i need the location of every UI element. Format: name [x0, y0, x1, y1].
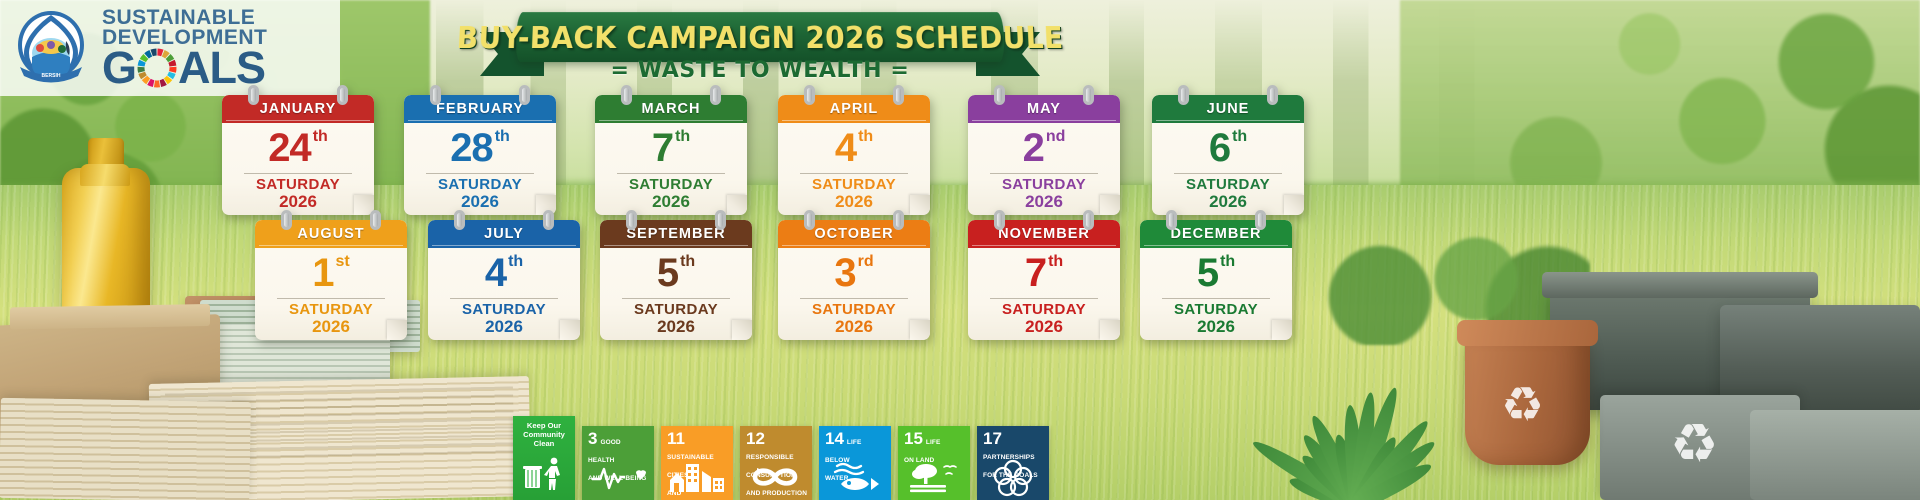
calendar-ring-left-icon — [626, 210, 637, 230]
calendar-month-label: DECEMBER — [1171, 226, 1262, 242]
calendar-ring-left-icon — [454, 210, 465, 230]
page-subtitle: = WASTE TO WEALTH = — [480, 58, 1040, 83]
calendar-day-number: 2 — [1023, 128, 1044, 168]
calendar-day-suffix: th — [675, 128, 690, 146]
calendar-day-suffix: rd — [858, 253, 874, 271]
calendar-card-body: AUGUST1stSATURDAY2026 — [255, 220, 407, 340]
calendar-year-label: 2026 — [255, 317, 407, 337]
calendar-month-header: FEBRUARY — [404, 95, 556, 123]
calendar-ring-right-icon — [370, 210, 381, 230]
calendar-card-body: MARCH7thSATURDAY2026 — [595, 95, 747, 215]
calendar-page-curl — [1272, 320, 1292, 340]
calendar-ring-left-icon — [994, 210, 1005, 230]
calendar-day-suffix: th — [680, 253, 695, 271]
calendar-day-wrap: 24th — [222, 124, 374, 172]
calendar-day-suffix: th — [858, 128, 873, 146]
calendar-ring-left-icon — [804, 210, 815, 230]
calendar-card-november[interactable]: NOVEMBER7thSATURDAY2026 — [968, 220, 1120, 340]
calendar-card-june[interactable]: JUNE6thSATURDAY2026 — [1152, 95, 1304, 215]
calendar-divider — [800, 173, 908, 174]
calendar-day-number: 4 — [835, 128, 856, 168]
calendar-ring-left-icon — [281, 210, 292, 230]
calendar-month-label: NOVEMBER — [998, 226, 1090, 242]
calendar-divider — [450, 298, 558, 299]
calendar-weekday-label: SATURDAY — [428, 301, 580, 318]
calendar-month-label: JULY — [484, 226, 524, 242]
calendar-page-curl — [727, 195, 747, 215]
calendar-ring-right-icon — [337, 85, 348, 105]
sdg-icon-number: 14 — [825, 431, 844, 446]
calendar-card-september[interactable]: SEPTEMBER5thSATURDAY2026 — [600, 220, 752, 340]
calendar-day-wrap: 5th — [600, 249, 752, 297]
calendar-ring-left-icon — [804, 85, 815, 105]
sdg-icon-label: Keep OurCommunityClean — [523, 421, 565, 448]
calendar-weekday-label: SATURDAY — [778, 301, 930, 318]
calendar-month-label: APRIL — [830, 101, 879, 117]
calendar-day-suffix: th — [1232, 128, 1247, 146]
calendar-month-label: OCTOBER — [814, 226, 893, 242]
fish-waves-icon — [819, 458, 891, 496]
calendar-day-number: 28 — [450, 128, 493, 168]
calendar-day-suffix: nd — [1046, 128, 1066, 146]
sdg-icon-17: 17PARTNERSHIPSFOR THE GOALS — [977, 426, 1049, 500]
calendar-page-curl — [732, 320, 752, 340]
calendar-year-label: 2026 — [595, 192, 747, 212]
calendar-ring-right-icon — [519, 85, 530, 105]
calendar-weekday-label: SATURDAY — [255, 301, 407, 318]
calendar-weekday-label: SATURDAY — [1140, 301, 1292, 318]
calendar-day-suffix: th — [495, 128, 510, 146]
interlocking-rings-icon — [977, 458, 1049, 496]
calendar-divider — [244, 173, 352, 174]
calendar-day-suffix: th — [508, 253, 523, 271]
calendar-page-curl — [1284, 195, 1304, 215]
calendar-ring-right-icon — [1083, 85, 1094, 105]
calendar-weekday-label: SATURDAY — [404, 176, 556, 193]
calendar-month-header: SEPTEMBER — [600, 220, 752, 248]
agave-plant-prop — [1242, 370, 1472, 500]
calendar-weekday-label: SATURDAY — [968, 301, 1120, 318]
calendar-card-march[interactable]: MARCH7thSATURDAY2026 — [595, 95, 747, 215]
calendar-year-label: 2026 — [600, 317, 752, 337]
calendar-day-wrap: 1st — [255, 249, 407, 297]
calendar-day-number: 4 — [485, 253, 506, 293]
calendar-month-header: DECEMBER — [1140, 220, 1292, 248]
page-title: BUY-BACK CAMPAIGN 2026 SCHEDULE — [456, 19, 1064, 55]
calendar-card-august[interactable]: AUGUST1stSATURDAY2026 — [255, 220, 407, 340]
calendar-day-suffix: th — [1048, 253, 1063, 271]
sdg-icon-number: 15 — [904, 431, 923, 446]
calendar-weekday-label: SATURDAY — [1152, 176, 1304, 193]
calendar-card-february[interactable]: FEBRUARY28thSATURDAY2026 — [404, 95, 556, 215]
calendar-card-body: JUNE6thSATURDAY2026 — [1152, 95, 1304, 215]
calendar-weekday-label: SATURDAY — [778, 176, 930, 193]
calendar-day-wrap: 3rd — [778, 249, 930, 297]
calendar-day-wrap: 5th — [1140, 249, 1292, 297]
calendar-year-label: 2026 — [1152, 192, 1304, 212]
trash-person-icon — [513, 451, 575, 497]
calendar-day-number: 1 — [312, 253, 333, 293]
calendar-card-body: FEBRUARY28thSATURDAY2026 — [404, 95, 556, 215]
calendar-ring-left-icon — [430, 85, 441, 105]
calendar-month-header: NOVEMBER — [968, 220, 1120, 248]
calendar-day-suffix: st — [336, 253, 350, 271]
calendar-card-january[interactable]: JANUARY24thSATURDAY2026 — [222, 95, 374, 215]
sdg-icon-11: 11SUSTAINABLE CITIESAND COMMUNITIES — [661, 426, 733, 500]
calendar-year-label: 2026 — [404, 192, 556, 212]
goals-als-letters: ALS — [178, 48, 265, 89]
heartbeat-icon — [582, 458, 654, 496]
calendar-year-label: 2026 — [968, 317, 1120, 337]
calendar-divider — [277, 298, 385, 299]
calendar-card-body: SEPTEMBER5thSATURDAY2026 — [600, 220, 752, 340]
calendar-year-label: 2026 — [222, 192, 374, 212]
sdg-color-wheel-icon — [137, 48, 177, 88]
calendar-month-label: MARCH — [642, 101, 701, 117]
calendar-card-body: JANUARY24thSATURDAY2026 — [222, 95, 374, 215]
calendar-day-wrap: 2nd — [968, 124, 1120, 172]
sdg-icon-number: 11 — [667, 431, 685, 446]
majlis-bandaraya-miri-seal-icon: BERSIH — [10, 7, 92, 89]
calendar-month-header: JUNE — [1152, 95, 1304, 123]
calendar-divider — [426, 173, 534, 174]
calendar-ring-left-icon — [1178, 85, 1189, 105]
calendar-card-october[interactable]: OCTOBER3rdSATURDAY2026 — [778, 220, 930, 340]
calendar-page-curl — [560, 320, 580, 340]
calendar-ring-right-icon — [893, 210, 904, 230]
sdg-icon-12: 12RESPONSIBLECONSUMPTIONAND PRODUCTION — [740, 426, 812, 500]
calendar-card-body: OCTOBER3rdSATURDAY2026 — [778, 220, 930, 340]
calendar-card-may[interactable]: MAY2ndSATURDAY2026 — [968, 95, 1120, 215]
sdg-icon-number: 12 — [746, 431, 765, 446]
calendar-divider — [622, 298, 730, 299]
calendar-day-wrap: 7th — [968, 249, 1120, 297]
sdg-icon-keep-community-clean: Keep OurCommunityClean — [513, 416, 575, 500]
calendar-day-wrap: 4th — [428, 249, 580, 297]
calendar-year-label: 2026 — [778, 317, 930, 337]
logo-panel: BERSIH SUSTAINABLE DEVELOPMENT G ALS — [0, 0, 340, 96]
calendar-divider — [617, 173, 725, 174]
calendar-month-label: FEBRUARY — [436, 101, 524, 117]
clay-pot-recycle-prop: ♻ — [1465, 330, 1590, 465]
calendar-day-suffix: th — [1220, 253, 1235, 271]
calendar-ring-right-icon — [893, 85, 904, 105]
calendar-card-july[interactable]: JULY4thSATURDAY2026 — [428, 220, 580, 340]
calendar-page-curl — [910, 195, 930, 215]
calendar-ring-right-icon — [1267, 85, 1278, 105]
recycle-symbol-pot-icon: ♻ — [1501, 382, 1544, 430]
calendar-ring-left-icon — [621, 85, 632, 105]
calendar-ring-left-icon — [994, 85, 1005, 105]
calendar-day-suffix: th — [313, 128, 328, 146]
sdg-icon-number: 3 — [588, 431, 597, 446]
calendar-day-number: 6 — [1209, 128, 1230, 168]
calendar-page-curl — [910, 320, 930, 340]
calendar-ring-right-icon — [1083, 210, 1094, 230]
calendar-month-label: JUNE — [1207, 101, 1250, 117]
tree-birds-icon — [898, 458, 970, 496]
calendar-ring-right-icon — [710, 85, 721, 105]
calendar-ring-left-icon — [1166, 210, 1177, 230]
calendar-weekday-label: SATURDAY — [595, 176, 747, 193]
newspaper-stack-left-prop — [0, 398, 251, 500]
calendar-month-label: MAY — [1027, 101, 1061, 117]
calendar-day-number: 7 — [1025, 253, 1046, 293]
calendar-month-label: AUGUST — [297, 226, 364, 242]
calendar-divider — [800, 298, 908, 299]
goals-g-letter: G — [102, 48, 136, 89]
calendar-month-label: SEPTEMBER — [626, 226, 725, 242]
calendar-day-wrap: 6th — [1152, 124, 1304, 172]
calendar-month-header: JANUARY — [222, 95, 374, 123]
calendar-card-body: JULY4thSATURDAY2026 — [428, 220, 580, 340]
sdg-goals-word: G ALS — [102, 48, 267, 89]
sdg-icon-15: 15LIFEON LAND — [898, 426, 970, 500]
calendar-day-number: 24 — [268, 128, 311, 168]
city-buildings-icon — [661, 458, 733, 496]
sdg-icon-strip: Keep OurCommunityClean3GOOD HEALTHAND WE… — [513, 416, 1049, 500]
calendar-page-curl — [1100, 320, 1120, 340]
calendar-divider — [990, 298, 1098, 299]
calendar-year-label: 2026 — [778, 192, 930, 212]
calendar-page-curl — [387, 320, 407, 340]
calendar-day-wrap: 7th — [595, 124, 747, 172]
calendar-day-number: 3 — [834, 253, 855, 293]
calendar-weekday-label: SATURDAY — [968, 176, 1120, 193]
calendar-ring-right-icon — [715, 210, 726, 230]
calendar-weekday-label: SATURDAY — [600, 301, 752, 318]
infinity-loop-icon — [740, 458, 812, 496]
calendar-card-december[interactable]: DECEMBER5thSATURDAY2026 — [1140, 220, 1292, 340]
calendar-divider — [1174, 173, 1282, 174]
calendar-day-wrap: 4th — [778, 124, 930, 172]
calendar-weekday-label: SATURDAY — [222, 176, 374, 193]
calendar-ring-right-icon — [543, 210, 554, 230]
recycling-crate-right-prop — [1750, 410, 1920, 500]
calendar-month-header: AUGUST — [255, 220, 407, 248]
calendar-card-body: MAY2ndSATURDAY2026 — [968, 95, 1120, 215]
sdg-icon-14: 14LIFE BELOWWATER — [819, 426, 891, 500]
calendar-month-header: JULY — [428, 220, 580, 248]
calendar-month-header: OCTOBER — [778, 220, 930, 248]
calendar-card-april[interactable]: APRIL4thSATURDAY2026 — [778, 95, 930, 215]
calendar-year-label: 2026 — [1140, 317, 1292, 337]
sdg-icon-3: 3GOOD HEALTHAND WELL-BEING — [582, 426, 654, 500]
calendar-year-label: 2026 — [968, 192, 1120, 212]
sdg-line-1: SUSTAINABLE — [102, 8, 267, 28]
calendar-card-body: DECEMBER5thSATURDAY2026 — [1140, 220, 1292, 340]
ribbon-banner: BUY-BACK CAMPAIGN 2026 SCHEDULE — [515, 12, 1005, 62]
svg-text:BERSIH: BERSIH — [42, 73, 61, 79]
calendar-page-curl — [1100, 195, 1120, 215]
calendar-day-number: 5 — [1197, 253, 1218, 293]
calendar-card-body: NOVEMBER7thSATURDAY2026 — [968, 220, 1120, 340]
calendar-year-label: 2026 — [428, 317, 580, 337]
calendar-day-number: 7 — [652, 128, 673, 168]
calendar-day-number: 5 — [657, 253, 678, 293]
calendar-month-header: MAY — [968, 95, 1120, 123]
calendar-month-header: APRIL — [778, 95, 930, 123]
recycle-symbol-icon: ♻ — [1670, 417, 1718, 471]
calendar-month-label: JANUARY — [260, 101, 337, 117]
calendar-card-body: APRIL4thSATURDAY2026 — [778, 95, 930, 215]
calendar-month-header: MARCH — [595, 95, 747, 123]
sdg-icon-number: 17 — [983, 431, 1002, 446]
calendar-ring-left-icon — [248, 85, 259, 105]
calendar-day-wrap: 28th — [404, 124, 556, 172]
calendar-divider — [1162, 298, 1270, 299]
calendar-divider — [990, 173, 1098, 174]
calendar-ring-right-icon — [1255, 210, 1266, 230]
